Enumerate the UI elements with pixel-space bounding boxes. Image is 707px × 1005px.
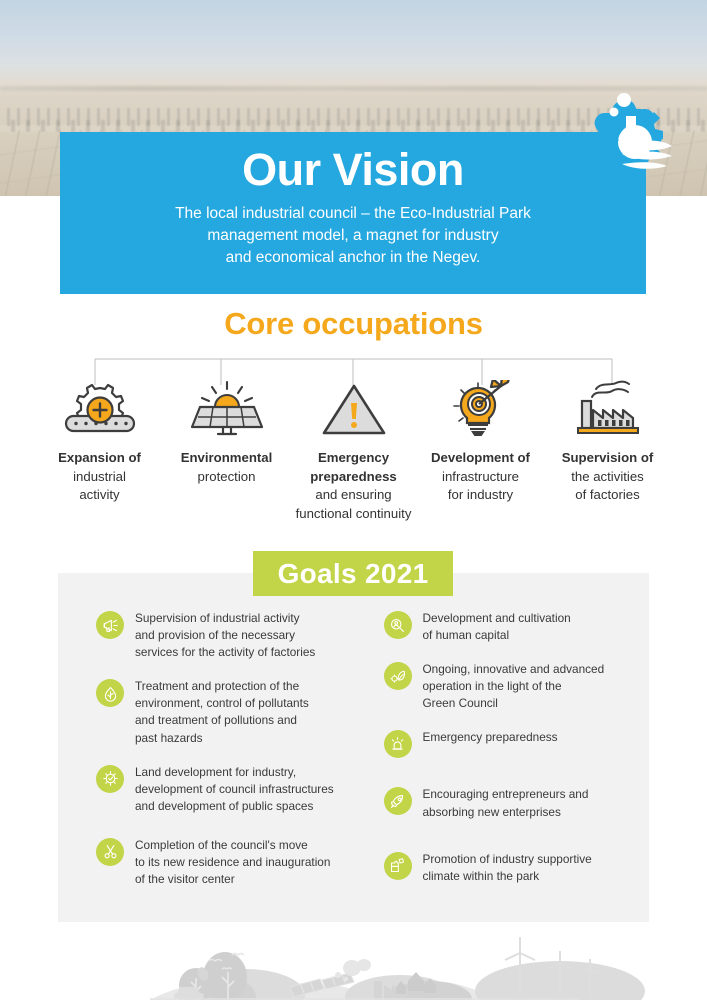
goal-text: Supervision of industrial activity and p… — [135, 610, 315, 661]
core-item-label-bold: Environmental — [181, 450, 273, 465]
core-item-label-line-3: of factories — [575, 487, 640, 502]
goal-line: and provision of the necessary — [135, 628, 295, 642]
goal-text: Emergency preparedness — [423, 729, 558, 746]
gear-leaf-icon — [384, 662, 412, 690]
leaf-droplet-icon — [96, 679, 124, 707]
core-item-label-line-2: the activities — [571, 469, 644, 484]
warning-triangle-icon — [290, 380, 417, 436]
goal-line: operation in the light of the — [423, 679, 562, 693]
goal-text: Encouraging entrepreneurs and absorbing … — [423, 786, 589, 820]
list-item: Land development for industry, developme… — [96, 764, 342, 815]
goal-text: Treatment and protection of the environm… — [135, 678, 309, 746]
goal-line: and development of public spaces — [135, 799, 313, 813]
goal-line: Treatment and protection of the — [135, 679, 299, 693]
vision-subtitle-line-2: management model, a magnet for industry — [60, 225, 646, 247]
puzzle-pieces-icon — [384, 852, 412, 880]
goal-text: Promotion of industry supportive climate… — [423, 851, 592, 885]
goals-left-column: Supervision of industrial activity and p… — [58, 610, 354, 905]
goal-line: past hazards — [135, 731, 203, 745]
goals-list: Supervision of industrial activity and p… — [58, 610, 649, 905]
core-item-label-line-3: for industry — [448, 487, 513, 502]
core-item-label-line-3: activity — [79, 487, 119, 502]
core-item-label: Emergency preparedness and ensuring func… — [290, 449, 417, 524]
goal-line: to its new residence and inauguration — [135, 855, 330, 869]
core-item-label: Supervision of the activities of factori… — [544, 449, 671, 505]
goal-line: Emergency preparedness — [423, 730, 558, 744]
goal-line: Green Council — [423, 696, 498, 710]
land-development-icon — [96, 765, 124, 793]
core-occupations-section: Expansion of industrial activity — [0, 358, 707, 533]
goal-line: Completion of the council's move — [135, 838, 308, 852]
list-item: Development and cultivation of human cap… — [384, 610, 638, 644]
factory-smokestack-icon — [544, 380, 671, 436]
core-item-label: Environmental protection — [163, 449, 290, 486]
goal-line: Ongoing, innovative and advanced — [423, 662, 605, 676]
gear-hand-leaf-logo-icon — [552, 84, 682, 188]
goal-line: environment, control of pollutants — [135, 696, 309, 710]
goal-text: Completion of the council's move to its … — [135, 837, 330, 888]
core-item-supervision: Supervision of the activities of factori… — [544, 380, 671, 505]
goal-line: Land development for industry, — [135, 765, 296, 779]
megaphone-icon — [96, 611, 124, 639]
core-item-label-line-3: and ensuring — [315, 487, 391, 502]
goal-line: development of council infrastructures — [135, 782, 334, 796]
core-item-label-bold: Expansion of — [58, 450, 141, 465]
core-item-label-bold: Development of — [431, 450, 530, 465]
list-item: Treatment and protection of the environm… — [96, 678, 342, 746]
gear-conveyor-plus-icon — [36, 380, 163, 436]
vision-subtitle-line-3: and economical anchor in the Negev. — [60, 247, 646, 269]
core-item-label-bold: Emergency — [318, 450, 389, 465]
core-item-label-bold: Supervision of — [562, 450, 654, 465]
goal-line: Encouraging entrepreneurs and — [423, 787, 589, 801]
magnifier-person-icon — [384, 611, 412, 639]
list-item: Promotion of industry supportive climate… — [384, 851, 638, 885]
goal-line: Promotion of industry supportive — [423, 852, 592, 866]
list-item: Encouraging entrepreneurs and absorbing … — [384, 786, 638, 820]
core-item-label-line-2: infrastructure — [442, 469, 519, 484]
goal-line: climate within the park — [423, 869, 540, 883]
solar-panel-sun-icon — [163, 380, 290, 436]
goals-banner: Goals 2021 — [253, 551, 453, 596]
goal-line: Development and cultivation — [423, 611, 571, 625]
core-occupations-heading: Core occupations — [0, 306, 707, 342]
goal-line: and treatment of pollutions and — [135, 713, 297, 727]
list-item: Ongoing, innovative and advanced operati… — [384, 661, 638, 712]
emergency-siren-icon — [384, 730, 412, 758]
goal-text: Land development for industry, developme… — [135, 764, 334, 815]
core-item-label-line-4: functional continuity — [296, 506, 412, 521]
core-item-label: Development of infrastructure for indust… — [417, 449, 544, 505]
core-item-label-line-2: industrial — [73, 469, 126, 484]
goal-text: Ongoing, innovative and advanced operati… — [423, 661, 605, 712]
goal-line: services for the activity of factories — [135, 645, 315, 659]
goal-line: of human capital — [423, 628, 510, 642]
scissors-ribbon-icon — [96, 838, 124, 866]
core-item-label-bold-2: preparedness — [310, 469, 397, 484]
core-item-expansion: Expansion of industrial activity — [36, 380, 163, 505]
core-item-label-line-2: protection — [198, 469, 256, 484]
core-item-development: Development of infrastructure for indust… — [417, 380, 544, 505]
core-item-emergency: Emergency preparedness and ensuring func… — [290, 380, 417, 524]
list-item: Completion of the council's move to its … — [96, 837, 342, 888]
goal-line: of the visitor center — [135, 872, 235, 886]
core-item-environment: Environmental protection — [163, 380, 290, 486]
goals-right-column: Development and cultivation of human cap… — [354, 610, 650, 905]
core-occupations-list: Expansion of industrial activity — [36, 380, 671, 524]
list-item: Supervision of industrial activity and p… — [96, 610, 342, 661]
vision-subtitle: The local industrial council – the Eco-I… — [60, 193, 646, 269]
goal-line: Supervision of industrial activity — [135, 611, 300, 625]
core-item-label: Expansion of industrial activity — [36, 449, 163, 505]
eco-landscape-silhouette — [0, 925, 707, 1000]
goal-line: absorbing new enterprises — [423, 805, 561, 819]
list-item: Emergency preparedness — [384, 729, 638, 758]
rocket-icon — [384, 787, 412, 815]
goal-text: Development and cultivation of human cap… — [423, 610, 571, 644]
lightbulb-target-arrow-icon — [417, 380, 544, 436]
vision-subtitle-line-1: The local industrial council – the Eco-I… — [60, 203, 646, 225]
